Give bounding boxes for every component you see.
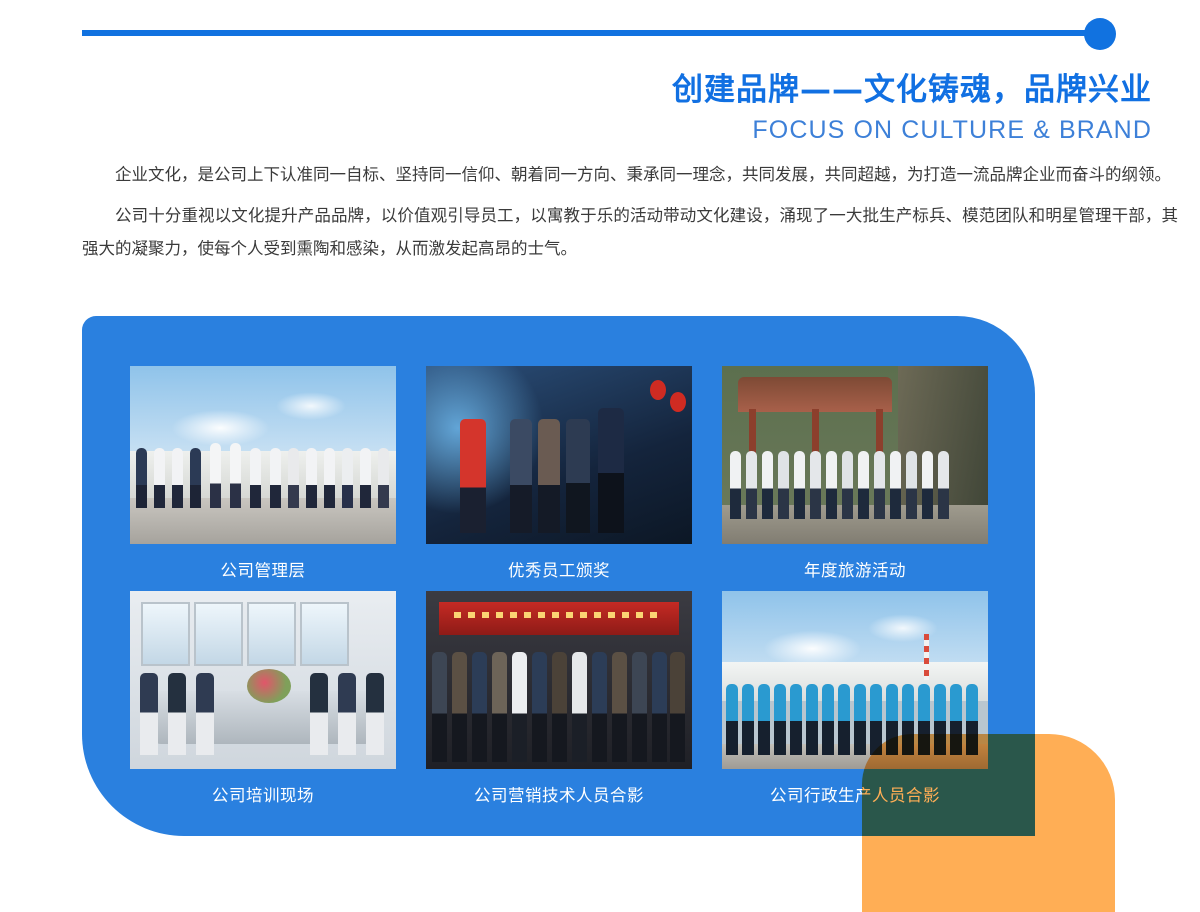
photo-gallery: 公司管理层 优秀员工颁奖 bbox=[130, 366, 988, 806]
photo-people-row bbox=[130, 448, 396, 509]
photo-people-row bbox=[426, 652, 692, 762]
gallery-item[interactable]: 优秀员工颁奖 bbox=[426, 366, 692, 581]
photo-sales-and-technical-staff-group-photo[interactable] bbox=[426, 591, 692, 769]
photo-people-row bbox=[426, 419, 692, 533]
gallery-caption: 公司营销技术人员合影 bbox=[426, 782, 692, 806]
gallery-caption: 公司培训现场 bbox=[130, 782, 396, 806]
photo-window bbox=[194, 602, 243, 667]
gallery-item[interactable]: 年度旅游活动 bbox=[722, 366, 988, 581]
photo-red-banner bbox=[439, 602, 678, 636]
photo-pole bbox=[924, 634, 929, 680]
photo-lantern-icon bbox=[650, 380, 666, 400]
gallery-item[interactable]: 公司培训现场 bbox=[130, 591, 396, 806]
body-copy: 企业文化，是公司上下认准同一自标、坚持同一信仰、朝着同一方向、秉承同一理念，共同… bbox=[82, 158, 1178, 273]
page-subtitle: FOCUS ON CULTURE & BRAND bbox=[672, 116, 1152, 145]
photo-company-training-session[interactable] bbox=[130, 591, 396, 769]
page-title-block: 创建品牌——文化铸魂，品牌兴业 FOCUS ON CULTURE & BRAND bbox=[672, 70, 1152, 145]
photo-annual-tour-activity[interactable] bbox=[722, 366, 988, 544]
photo-company-management-team[interactable] bbox=[130, 366, 396, 544]
gallery-item[interactable]: 公司营销技术人员合影 bbox=[426, 591, 692, 806]
photo-outstanding-employee-award[interactable] bbox=[426, 366, 692, 544]
photo-window bbox=[141, 602, 190, 667]
top-rule bbox=[82, 30, 1100, 36]
gallery-caption: 年度旅游活动 bbox=[722, 557, 988, 581]
photo-people-row bbox=[130, 673, 396, 755]
gallery-caption: 优秀员工颁奖 bbox=[426, 557, 692, 581]
photo-window bbox=[247, 602, 296, 667]
photo-window bbox=[300, 602, 349, 667]
photo-people-row bbox=[722, 451, 988, 519]
accent-blob bbox=[862, 734, 1115, 912]
gallery-caption: 公司管理层 bbox=[130, 557, 396, 581]
page-title: 创建品牌——文化铸魂，品牌兴业 bbox=[672, 70, 1152, 110]
paragraph-1: 企业文化，是公司上下认准同一自标、坚持同一信仰、朝着同一方向、秉承同一理念，共同… bbox=[82, 158, 1178, 191]
paragraph-2: 公司十分重视以文化提升产品品牌，以价值观引导员工，以寓教于乐的活动带动文化建设，… bbox=[82, 199, 1178, 265]
photo-lantern-icon bbox=[670, 392, 686, 412]
top-rule-end-dot-icon bbox=[1084, 18, 1116, 50]
gallery-item[interactable]: 公司管理层 bbox=[130, 366, 396, 581]
photo-pavilion-roof bbox=[738, 377, 892, 413]
